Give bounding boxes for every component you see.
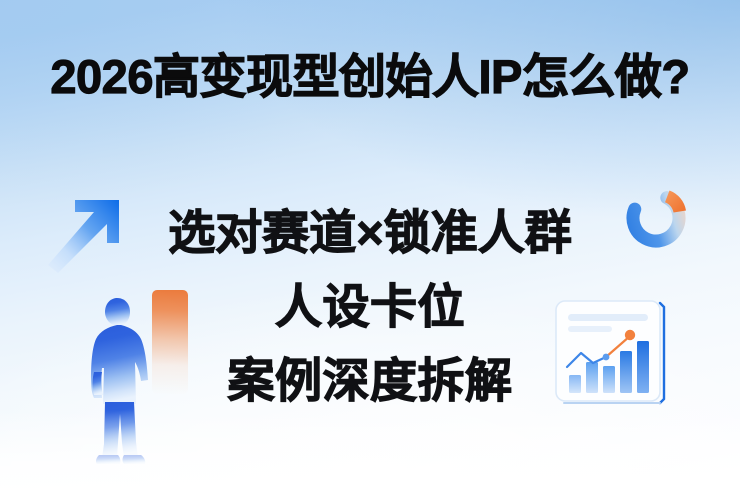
page-title: 2026高变现型创始人IP怎么做? (0, 52, 740, 102)
poster-canvas: 2026高变现型创始人IP怎么做? (0, 0, 740, 488)
main-line-1: 选对赛道×锁准人群 (0, 196, 740, 270)
analytics-card-icon (548, 295, 672, 413)
businessman-silhouette (72, 288, 188, 468)
